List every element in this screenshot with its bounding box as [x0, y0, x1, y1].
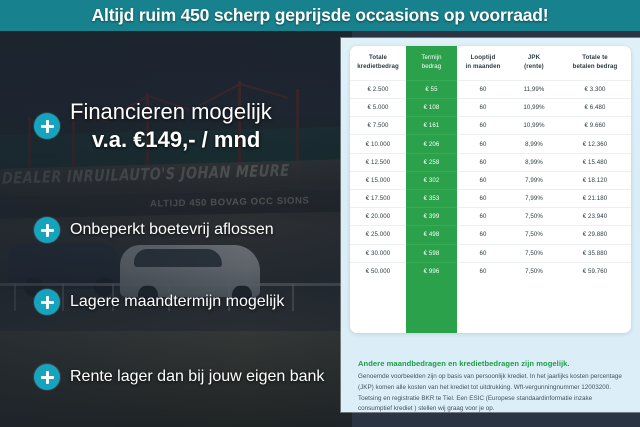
cell-krediet: € 50.000	[350, 262, 406, 280]
cell-looptijd: 60	[457, 135, 509, 153]
cell-krediet: € 5.000	[350, 99, 406, 117]
cell-termijn: € 258	[406, 153, 457, 171]
rates-table-card: Totale kredietbedrag Termijn bedrag Loop…	[350, 46, 631, 333]
table-row: € 25.000€ 498607,50%€ 29.880	[350, 226, 631, 244]
cell-looptijd: 60	[457, 190, 509, 208]
cell-looptijd: 60	[457, 226, 509, 244]
cell-krediet: € 25.000	[350, 226, 406, 244]
cell-totaal: € 35.880	[559, 244, 631, 262]
cell-totaal: € 18.120	[559, 171, 631, 189]
cell-termijn: € 302	[406, 171, 457, 189]
table-row: € 5.000€ 1086010,99%€ 6.480	[350, 99, 631, 117]
cell-termijn: € 55	[406, 80, 457, 98]
feature-financing-subline: v.a. €149,- / mnd	[92, 127, 272, 153]
cell-jkp: 7,99%	[509, 171, 559, 189]
col-header-krediet: Totale kredietbedrag	[350, 46, 406, 80]
rates-table-head: Totale kredietbedrag Termijn bedrag Loop…	[350, 46, 631, 80]
cell-krediet: € 7.500	[350, 117, 406, 135]
promo-banner-text: Altijd ruim 450 scherp geprijsde occasio…	[92, 5, 549, 26]
cell-totaal: € 15.480	[559, 153, 631, 171]
cell-jkp: 7,50%	[509, 244, 559, 262]
cell-totaal: € 21.180	[559, 190, 631, 208]
cell-looptijd: 60	[457, 80, 509, 98]
cell-looptijd: 60	[457, 171, 509, 189]
note-heading: Andere maandbedragen en kredietbedragen …	[358, 359, 630, 368]
plus-icon	[34, 113, 60, 139]
cell-krediet: € 15.000	[350, 171, 406, 189]
cell-jkp: 10,99%	[509, 117, 559, 135]
cell-totaal: € 12.360	[559, 135, 631, 153]
feature-financing-headline: Financieren mogelijk	[70, 99, 272, 124]
rates-table-body: € 2.500€ 556011,99%€ 3.300€ 5.000€ 10860…	[350, 80, 631, 280]
cell-looptijd: 60	[457, 208, 509, 226]
finance-panel: Totale kredietbedrag Termijn bedrag Loop…	[341, 38, 640, 412]
cell-jkp: 11,99%	[509, 80, 559, 98]
col-header-looptijd: Looptijd in maanden	[457, 46, 509, 80]
table-row: € 50.000€ 996607,50%€ 59.760	[350, 262, 631, 280]
plus-icon	[34, 289, 60, 315]
cell-jkp: 7,99%	[509, 190, 559, 208]
cell-termijn: € 206	[406, 135, 457, 153]
cell-termijn: € 498	[406, 226, 457, 244]
cell-looptijd: 60	[457, 244, 509, 262]
cell-totaal: € 9.660	[559, 117, 631, 135]
table-row: € 20.000€ 399607,50%€ 23.940	[350, 208, 631, 226]
table-row: € 30.000€ 598607,50%€ 35.880	[350, 244, 631, 262]
table-row: € 17.500€ 353607,99%€ 21.180	[350, 190, 631, 208]
cell-looptijd: 60	[457, 99, 509, 117]
cell-jkp: 7,50%	[509, 208, 559, 226]
feature-item-financing: Financieren mogelijk v.a. €149,- / mnd	[34, 99, 272, 154]
cell-krediet: € 12.500	[350, 153, 406, 171]
feature-lower-interest-label: Rente lager dan bij jouw eigen bank	[70, 368, 324, 386]
cell-krediet: € 10.000	[350, 135, 406, 153]
cell-totaal: € 23.940	[559, 208, 631, 226]
plus-icon	[34, 217, 60, 243]
cell-totaal: € 3.300	[559, 80, 631, 98]
col-header-jkp: JPK (rente)	[509, 46, 559, 80]
cell-looptijd: 60	[457, 262, 509, 280]
col-header-termijn: Termijn bedrag	[406, 46, 457, 80]
col-header-totaal: Totale te betalen bedrag	[559, 46, 631, 80]
cell-totaal: € 29.880	[559, 226, 631, 244]
cell-termijn: € 598	[406, 244, 457, 262]
cell-jkp: 8,99%	[509, 153, 559, 171]
feature-item-free-repayment: Onbeperkt boetevrij aflossen	[34, 217, 274, 243]
table-row: € 7.500€ 1616010,99%€ 9.660	[350, 117, 631, 135]
feature-lower-monthly-label: Lagere maandtermijn mogelijk	[70, 293, 284, 311]
promo-banner: Altijd ruim 450 scherp geprijsde occasio…	[0, 0, 640, 31]
rates-table: Totale kredietbedrag Termijn bedrag Loop…	[350, 46, 631, 280]
cell-krediet: € 30.000	[350, 244, 406, 262]
table-row: € 10.000€ 206608,99%€ 12.360	[350, 135, 631, 153]
cell-termijn: € 161	[406, 117, 457, 135]
table-row: € 12.500€ 258608,99%€ 15.480	[350, 153, 631, 171]
note-body: Genoemde voorbeelden zijn op basis van p…	[358, 372, 626, 415]
cell-looptijd: 60	[457, 153, 509, 171]
cell-jkp: 7,50%	[509, 262, 559, 280]
feature-item-lower-interest: Rente lager dan bij jouw eigen bank	[34, 364, 324, 390]
cell-termijn: € 353	[406, 190, 457, 208]
feature-free-repayment-label: Onbeperkt boetevrij aflossen	[70, 221, 274, 239]
table-row: € 2.500€ 556011,99%€ 3.300	[350, 80, 631, 98]
plus-icon	[34, 364, 60, 390]
cell-jkp: 7,50%	[509, 226, 559, 244]
table-header-row: Totale kredietbedrag Termijn bedrag Loop…	[350, 46, 631, 80]
cell-jkp: 8,99%	[509, 135, 559, 153]
feature-financing-text: Financieren mogelijk v.a. €149,- / mnd	[70, 99, 272, 154]
cell-krediet: € 2.500	[350, 80, 406, 98]
table-row: € 15.000€ 302607,99%€ 18.120	[350, 171, 631, 189]
cell-termijn: € 399	[406, 208, 457, 226]
cell-krediet: € 20.000	[350, 208, 406, 226]
cell-jkp: 10,99%	[509, 99, 559, 117]
cell-totaal: € 6.480	[559, 99, 631, 117]
cell-looptijd: 60	[457, 117, 509, 135]
feature-item-lower-monthly: Lagere maandtermijn mogelijk	[34, 289, 284, 315]
cell-totaal: € 59.760	[559, 262, 631, 280]
cell-termijn: € 996	[406, 262, 457, 280]
cell-termijn: € 108	[406, 99, 457, 117]
cell-krediet: € 17.500	[350, 190, 406, 208]
